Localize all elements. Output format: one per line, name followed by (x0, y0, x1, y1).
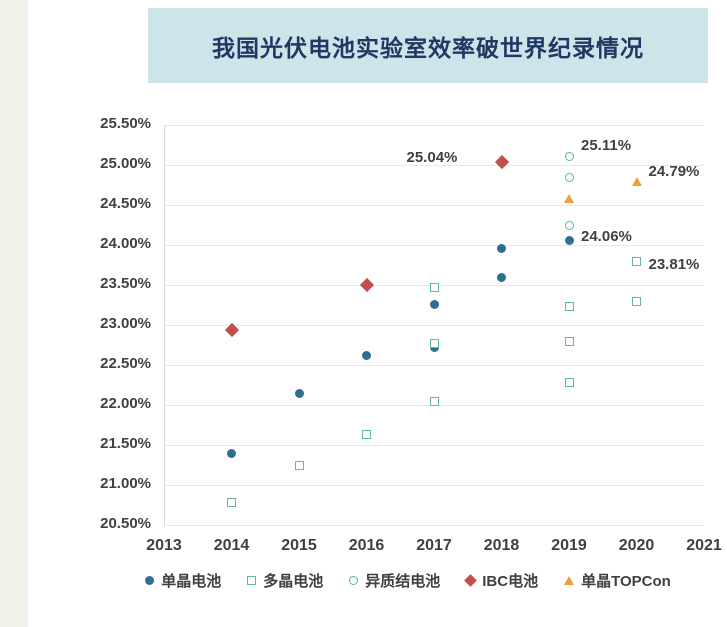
data-label: 25.11% (581, 137, 631, 154)
x-axis-tick-label: 2013 (129, 537, 199, 555)
title-left-padding (28, 8, 148, 83)
y-axis-tick-label: 25.00% (56, 155, 151, 172)
data-label: 24.79% (649, 163, 700, 180)
data-point (497, 273, 506, 282)
data-point (565, 302, 574, 311)
legend-marker-icon (247, 576, 256, 585)
data-point (227, 449, 236, 458)
y-axis-tick-label: 22.00% (56, 395, 151, 412)
legend-marker-icon (464, 574, 477, 587)
data-point (565, 152, 574, 161)
left-decorative-bar (0, 0, 28, 627)
legend-item[interactable]: 多晶电池 (247, 570, 323, 591)
legend-marker-icon (145, 576, 154, 585)
x-axis-tick-label: 2018 (467, 537, 537, 555)
data-point (632, 177, 642, 186)
y-axis-tick-label: 22.50% (56, 355, 151, 372)
y-axis-tick-label: 25.50% (56, 115, 151, 132)
data-point (564, 194, 574, 203)
legend-item[interactable]: 单晶TOPCon (564, 570, 671, 591)
data-point (632, 257, 641, 266)
chart-title-band: 我国光伏电池实验室效率破世界纪录情况 (148, 8, 708, 83)
x-axis-tick-label: 2016 (332, 537, 402, 555)
data-point (362, 430, 371, 439)
chart-page: 我国光伏电池实验室效率破世界纪录情况 20.50%21.00%21.50%22.… (0, 0, 727, 627)
data-point (359, 278, 373, 292)
data-point (295, 389, 304, 398)
gridline (164, 365, 704, 366)
gridline (164, 445, 704, 446)
data-point (430, 339, 439, 348)
gridline (164, 485, 704, 486)
x-axis-tick-label: 2015 (264, 537, 334, 555)
x-axis-tick-label: 2021 (669, 537, 727, 555)
data-label: 25.04% (407, 149, 458, 166)
y-axis-tick-label: 21.00% (56, 475, 151, 492)
data-label: 23.81% (649, 256, 700, 273)
y-axis-tick-label: 21.50% (56, 435, 151, 452)
page-title: 我国光伏电池实验室效率破世界纪录情况 (212, 29, 644, 63)
data-point (565, 236, 574, 245)
y-axis-tick-label: 24.50% (56, 195, 151, 212)
legend-label: 多晶电池 (263, 570, 323, 591)
data-point (565, 378, 574, 387)
data-label: 24.06% (581, 228, 632, 245)
legend-marker-icon (564, 576, 574, 585)
x-axis-tick-label: 2019 (534, 537, 604, 555)
legend-label: 单晶电池 (161, 570, 221, 591)
gridline (164, 525, 704, 526)
data-point (565, 221, 574, 230)
legend-label: 异质结电池 (365, 570, 440, 591)
data-point (227, 498, 236, 507)
gridline (164, 205, 704, 206)
chart-legend: 单晶电池多晶电池异质结电池IBC电池单晶TOPCon (108, 565, 708, 595)
data-point (430, 283, 439, 292)
y-axis-tick-label: 20.50% (56, 515, 151, 532)
data-point (494, 155, 508, 169)
legend-item[interactable]: 单晶电池 (145, 570, 221, 591)
data-point (565, 173, 574, 182)
y-axis-tick-label: 23.50% (56, 275, 151, 292)
legend-label: IBC电池 (482, 570, 538, 591)
legend-label: 单晶TOPCon (581, 570, 671, 591)
data-point (497, 244, 506, 253)
data-point (295, 461, 304, 470)
data-point (362, 351, 371, 360)
data-point (430, 397, 439, 406)
x-axis-tick-label: 2017 (399, 537, 469, 555)
legend-item[interactable]: 异质结电池 (349, 570, 440, 591)
y-axis-tick-label: 23.00% (56, 315, 151, 332)
legend-item[interactable]: IBC电池 (466, 570, 538, 591)
plot-area: 20.50%21.00%21.50%22.00%22.50%23.00%23.5… (164, 125, 704, 525)
gridline (164, 325, 704, 326)
gridline (164, 125, 704, 126)
x-axis-tick-label: 2014 (197, 537, 267, 555)
left-decorative-bar-inner (0, 0, 28, 627)
legend-marker-icon (349, 576, 358, 585)
data-point (430, 300, 439, 309)
data-point (632, 297, 641, 306)
data-point (565, 337, 574, 346)
y-axis-tick-label: 24.00% (56, 235, 151, 252)
x-axis-tick-label: 2020 (602, 537, 672, 555)
chart-card: 20.50%21.00%21.50%22.00%22.50%23.00%23.5… (28, 95, 727, 615)
